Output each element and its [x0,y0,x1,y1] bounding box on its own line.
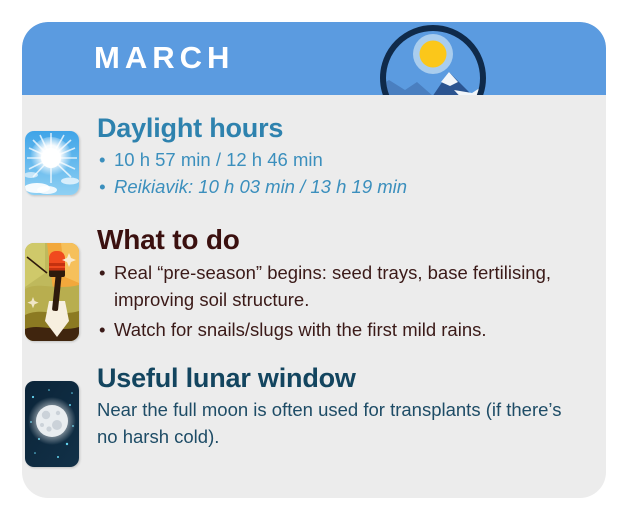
lunar-description: Near the full moon is often used for tra… [97,396,567,450]
todo-bullet-list: Real “pre-season” begins: seed trays, ba… [97,259,597,343]
card-header: MARCH [22,22,606,95]
sun-sky-thumbnail-icon [25,131,79,195]
full-moon-night-thumbnail-icon [25,381,79,467]
list-item: Watch for snails/slugs with the first mi… [97,316,597,343]
page-title: MARCH [94,38,234,78]
section-heading-lunar-window: Useful lunar window [97,362,597,394]
section-heading-what-to-do: What to do [97,224,597,256]
garden-trowel-thumbnail-icon [25,243,79,341]
mountain-sun-badge-icon [371,22,495,95]
section-heading-daylight: Daylight hours [97,112,597,144]
list-item: 10 h 57 min / 12 h 46 min [97,147,597,173]
month-info-card: MARCH [22,22,606,498]
daylight-bullet-list: 10 h 57 min / 12 h 46 min Reikiavik: 10 … [97,147,597,200]
list-item: Real “pre-season” begins: seed trays, ba… [97,259,597,313]
list-item: Reikiavik: 10 h 03 min / 13 h 19 min [97,174,597,200]
